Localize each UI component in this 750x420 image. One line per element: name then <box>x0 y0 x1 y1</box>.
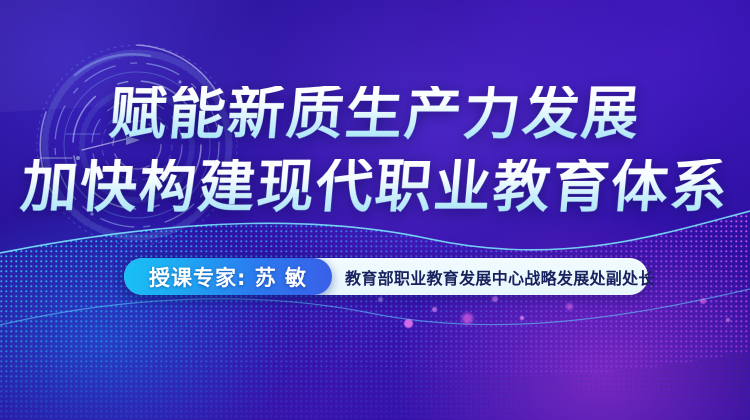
title-line-2: 加快构建现代职业教育体系 <box>0 159 750 216</box>
speaker-label: 授课专家: 苏 敏 <box>149 262 307 292</box>
diagonal-sheen <box>0 0 750 117</box>
speaker-title-text: 教育部职业教育发展中心战略发展处副处长 <box>345 258 635 295</box>
bokeh-dot <box>726 318 730 322</box>
bokeh-dot <box>404 319 413 328</box>
bokeh-dot <box>520 316 524 320</box>
hud-ring-icon <box>30 38 245 253</box>
glow-top-left <box>0 0 280 240</box>
bokeh-dot <box>432 307 437 312</box>
glow-bottom-left <box>0 200 290 420</box>
title-line-1: 赋能新质生产力发展 <box>0 86 750 143</box>
bokeh-dot <box>462 313 473 324</box>
glow-center <box>180 0 700 290</box>
glow-bottom-right <box>390 210 750 420</box>
bokeh-dot <box>566 303 573 310</box>
speaker-name-pill: 授课专家: 苏 敏 <box>124 258 332 295</box>
glow-top-right <box>440 0 750 250</box>
particle-wave-icon <box>0 205 750 420</box>
bokeh-dot <box>700 298 706 304</box>
bokeh-dot <box>492 296 498 302</box>
bokeh-dot <box>378 297 383 302</box>
course-banner: 赋能新质生产力发展 加快构建现代职业教育体系 授课专家: 苏 敏 教育部职业教育… <box>0 0 750 420</box>
banner-title: 赋能新质生产力发展 加快构建现代职业教育体系 <box>0 86 750 216</box>
